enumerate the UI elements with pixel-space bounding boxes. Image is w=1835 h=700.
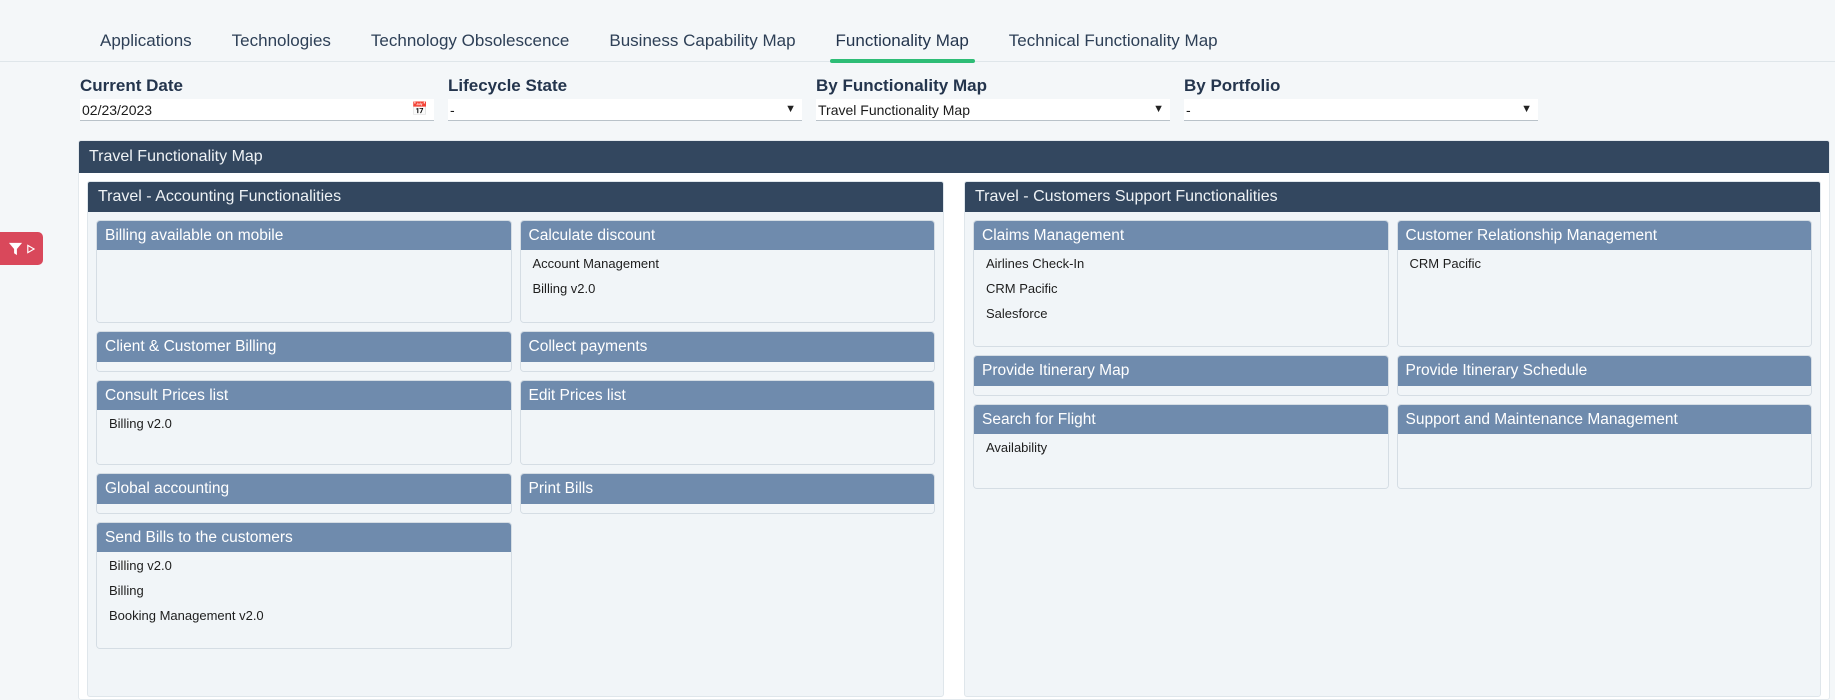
functionality-card-body: Availability — [974, 434, 1388, 488]
application-item[interactable]: Account Management — [529, 256, 927, 271]
functionality-card-body — [97, 362, 511, 371]
application-item[interactable]: Booking Management v2.0 — [105, 608, 503, 623]
functionality-card-title: Collect payments — [521, 332, 935, 361]
filter-label-lifecycle-state: Lifecycle State — [448, 76, 802, 96]
functionality-card[interactable]: Send Bills to the customersBilling v2.0B… — [96, 522, 512, 649]
functionality-card-body — [97, 504, 511, 513]
functionality-card[interactable]: Edit Prices list — [520, 380, 936, 465]
functionality-card-body — [1398, 434, 1812, 488]
functionality-card-title: Claims Management — [974, 221, 1388, 250]
application-item[interactable]: Billing v2.0 — [105, 558, 503, 573]
functionality-card-body: Airlines Check-InCRM PacificSalesforce — [974, 250, 1388, 346]
functionality-card-body — [97, 250, 511, 322]
functionality-card-body: Billing v2.0BillingBooking Management v2… — [97, 552, 511, 648]
group-card-grid: Claims ManagementAirlines Check-InCRM Pa… — [965, 212, 1820, 696]
application-item[interactable]: Billing v2.0 — [105, 416, 503, 431]
filter-by-portfolio: By Portfolio ▼ — [1184, 76, 1552, 121]
functionality-card-body: Billing v2.0 — [97, 410, 511, 464]
filter-label-by-portfolio: By Portfolio — [1184, 76, 1538, 96]
application-item[interactable]: Billing — [105, 583, 503, 598]
group-title: Travel - Customers Support Functionaliti… — [965, 182, 1820, 212]
functionality-card[interactable]: Customer Relationship ManagementCRM Paci… — [1397, 220, 1813, 347]
functionality-card-body — [974, 386, 1388, 395]
functionality-card[interactable]: Search for FlightAvailability — [973, 404, 1389, 489]
tab-applications[interactable]: Applications — [80, 32, 212, 61]
functionality-card-title: Edit Prices list — [521, 381, 935, 410]
functionality-card-title: Billing available on mobile — [97, 221, 511, 250]
functionality-card[interactable]: Calculate discountAccount ManagementBill… — [520, 220, 936, 323]
filter-panel-toggle-button[interactable] — [0, 232, 43, 265]
application-item[interactable]: Airlines Check-In — [982, 256, 1380, 271]
filter-current-date: Current Date 📅 — [80, 76, 448, 121]
functionality-card[interactable]: Support and Maintenance Management — [1397, 404, 1813, 489]
filter-by-functionality-map: By Functionality Map ▼ — [816, 76, 1184, 121]
play-arrow-icon — [26, 244, 35, 254]
current-date-input[interactable] — [80, 99, 434, 121]
group-card-grid: Billing available on mobileCalculate dis… — [88, 212, 943, 696]
functionality-card-title: Provide Itinerary Map — [974, 356, 1388, 385]
functionality-card-title: Print Bills — [521, 474, 935, 503]
functionality-card[interactable]: Print Bills — [520, 473, 936, 513]
functionality-card-title: Calculate discount — [521, 221, 935, 250]
functionality-card[interactable]: Billing available on mobile — [96, 220, 512, 323]
functionality-card-body — [521, 410, 935, 464]
application-item[interactable]: Billing v2.0 — [529, 281, 927, 296]
functionality-card-title: Send Bills to the customers — [97, 523, 511, 552]
functionality-card-title: Search for Flight — [974, 405, 1388, 434]
functionality-group: Travel - Customers Support Functionaliti… — [964, 181, 1821, 697]
functionality-card-body: Account ManagementBilling v2.0 — [521, 250, 935, 322]
functionality-card[interactable]: Provide Itinerary Map — [973, 355, 1389, 395]
tab-business-capability-map[interactable]: Business Capability Map — [589, 32, 815, 61]
functionality-card-title: Client & Customer Billing — [97, 332, 511, 361]
by-portfolio-select[interactable] — [1184, 99, 1538, 121]
map-panel-title: Travel Functionality Map — [79, 141, 1829, 173]
functionality-card-body — [1398, 386, 1812, 395]
functionality-map-panel: Travel Functionality Map Travel - Accoun… — [78, 140, 1830, 700]
tab-technologies[interactable]: Technologies — [212, 32, 351, 61]
functionality-card[interactable]: Provide Itinerary Schedule — [1397, 355, 1813, 395]
application-item[interactable]: CRM Pacific — [982, 281, 1380, 296]
functionality-card[interactable]: Consult Prices listBilling v2.0 — [96, 380, 512, 465]
functionality-card-title: Support and Maintenance Management — [1398, 405, 1812, 434]
lifecycle-state-select[interactable] — [448, 99, 802, 121]
functionality-card[interactable]: Collect payments — [520, 331, 936, 371]
functionality-group: Travel - Accounting FunctionalitiesBilli… — [87, 181, 944, 697]
functionality-card-title: Provide Itinerary Schedule — [1398, 356, 1812, 385]
functionality-card-body: CRM Pacific — [1398, 250, 1812, 346]
filter-bar: Current Date 📅 Lifecycle State ▼ By Func… — [0, 62, 1835, 131]
tab-technical-functionality-map[interactable]: Technical Functionality Map — [989, 32, 1238, 61]
functionality-card-title: Consult Prices list — [97, 381, 511, 410]
filter-lifecycle-state: Lifecycle State ▼ — [448, 76, 816, 121]
tab-technology-obsolescence[interactable]: Technology Obsolescence — [351, 32, 589, 61]
tab-functionality-map[interactable]: Functionality Map — [816, 32, 989, 61]
group-title: Travel - Accounting Functionalities — [88, 182, 943, 212]
functionality-card-title: Customer Relationship Management — [1398, 221, 1812, 250]
application-item[interactable]: CRM Pacific — [1406, 256, 1804, 271]
functionality-card[interactable]: Global accounting — [96, 473, 512, 513]
main-tab-bar: ApplicationsTechnologiesTechnology Obsol… — [0, 0, 1835, 62]
by-functionality-map-select[interactable] — [816, 99, 1170, 121]
functionality-card-body — [521, 362, 935, 371]
functionality-card-body — [521, 504, 935, 513]
filter-label-by-functionality-map: By Functionality Map — [816, 76, 1170, 96]
functionality-card[interactable]: Client & Customer Billing — [96, 331, 512, 371]
application-item[interactable]: Availability — [982, 440, 1380, 455]
application-item[interactable]: Salesforce — [982, 306, 1380, 321]
functionality-card-title: Global accounting — [97, 474, 511, 503]
functionality-card[interactable]: Claims ManagementAirlines Check-InCRM Pa… — [973, 220, 1389, 347]
filter-funnel-icon — [8, 241, 23, 256]
map-groups-container: Travel - Accounting FunctionalitiesBilli… — [79, 173, 1829, 697]
filter-label-current-date: Current Date — [80, 76, 434, 96]
